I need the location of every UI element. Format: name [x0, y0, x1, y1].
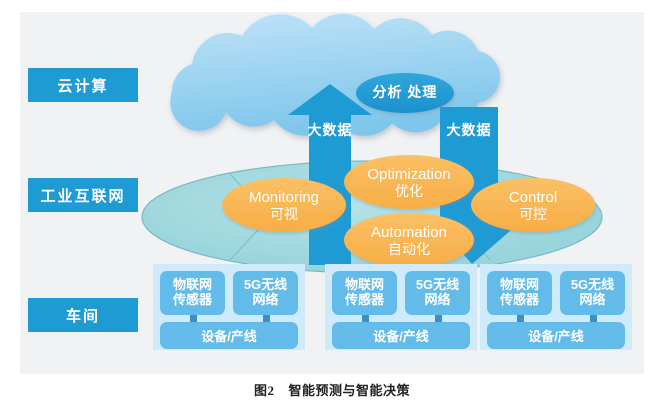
- figure-root: 云计算 工业互联网 车间 分析 处理 大数据 大数据 Monitoring 可视…: [0, 0, 664, 412]
- capsule-optimization-shape: [344, 155, 474, 209]
- workshop-panel[interactable]: 物联网 传感器 5G无线 网络 设备/产线: [153, 264, 305, 350]
- figure-caption: 图2智能预测与智能决策: [0, 380, 664, 399]
- iot-sensor-line1: 物联网: [345, 278, 384, 293]
- connector-left-icon: [190, 315, 197, 322]
- workshop-node-5g-network[interactable]: 5G无线 网络: [233, 271, 298, 315]
- connector-right-icon: [435, 315, 442, 322]
- workshop-node-row: 物联网 传感器 5G无线 网络: [332, 271, 470, 315]
- connector-left-icon: [362, 315, 369, 322]
- workshop-panel[interactable]: 物联网 传感器 5G无线 网络 设备/产线: [480, 264, 632, 350]
- capsule-monitoring-shape: [222, 178, 346, 232]
- connector-right-icon: [263, 315, 270, 322]
- 5g-network-line1: 5G无线: [571, 278, 614, 293]
- workshop-connectors: [332, 315, 470, 322]
- 5g-network-line2: 网络: [579, 293, 605, 308]
- workshop-equipment-bar[interactable]: 设备/产线: [487, 322, 625, 349]
- tier-label-cloud[interactable]: 云计算: [28, 68, 138, 102]
- connector-left-icon: [517, 315, 524, 322]
- workshop-node-5g-network[interactable]: 5G无线 网络: [405, 271, 470, 315]
- workshop-connectors: [487, 315, 625, 322]
- diagram-canvas: 云计算 工业互联网 车间 分析 处理 大数据 大数据 Monitoring 可视…: [20, 12, 644, 374]
- iot-sensor-line2: 传感器: [345, 293, 384, 308]
- 5g-network-line2: 网络: [424, 293, 450, 308]
- tier-label-industrial-internet[interactable]: 工业互联网: [28, 178, 138, 212]
- workshop-equipment-bar[interactable]: 设备/产线: [332, 322, 470, 349]
- workshop-node-row: 物联网 传感器 5G无线 网络: [160, 271, 298, 315]
- workshop-node-iot-sensor[interactable]: 物联网 传感器: [332, 271, 397, 315]
- iot-sensor-line2: 传感器: [173, 293, 212, 308]
- workshop-node-row: 物联网 传感器 5G无线 网络: [487, 271, 625, 315]
- iot-sensor-line2: 传感器: [500, 293, 539, 308]
- 5g-network-line1: 5G无线: [416, 278, 459, 293]
- workshop-connectors: [160, 315, 298, 322]
- 5g-network-line1: 5G无线: [244, 278, 287, 293]
- workshop-node-iot-sensor[interactable]: 物联网 传感器: [160, 271, 225, 315]
- iot-sensor-line1: 物联网: [500, 278, 539, 293]
- analysis-pill-shape: [356, 73, 454, 113]
- iot-sensor-line1: 物联网: [173, 278, 212, 293]
- figure-title: 智能预测与智能决策: [289, 383, 411, 398]
- workshop-equipment-bar[interactable]: 设备/产线: [160, 322, 298, 349]
- figure-number: 图2: [254, 383, 275, 398]
- workshop-node-5g-network[interactable]: 5G无线 网络: [560, 271, 625, 315]
- workshop-node-iot-sensor[interactable]: 物联网 传感器: [487, 271, 552, 315]
- capsule-control-shape: [471, 178, 595, 232]
- 5g-network-line2: 网络: [252, 293, 278, 308]
- tier-label-workshop[interactable]: 车间: [28, 298, 138, 332]
- capsule-automation-shape: [344, 213, 474, 267]
- workshop-panel[interactable]: 物联网 传感器 5G无线 网络 设备/产线: [325, 264, 477, 350]
- connector-right-icon: [590, 315, 597, 322]
